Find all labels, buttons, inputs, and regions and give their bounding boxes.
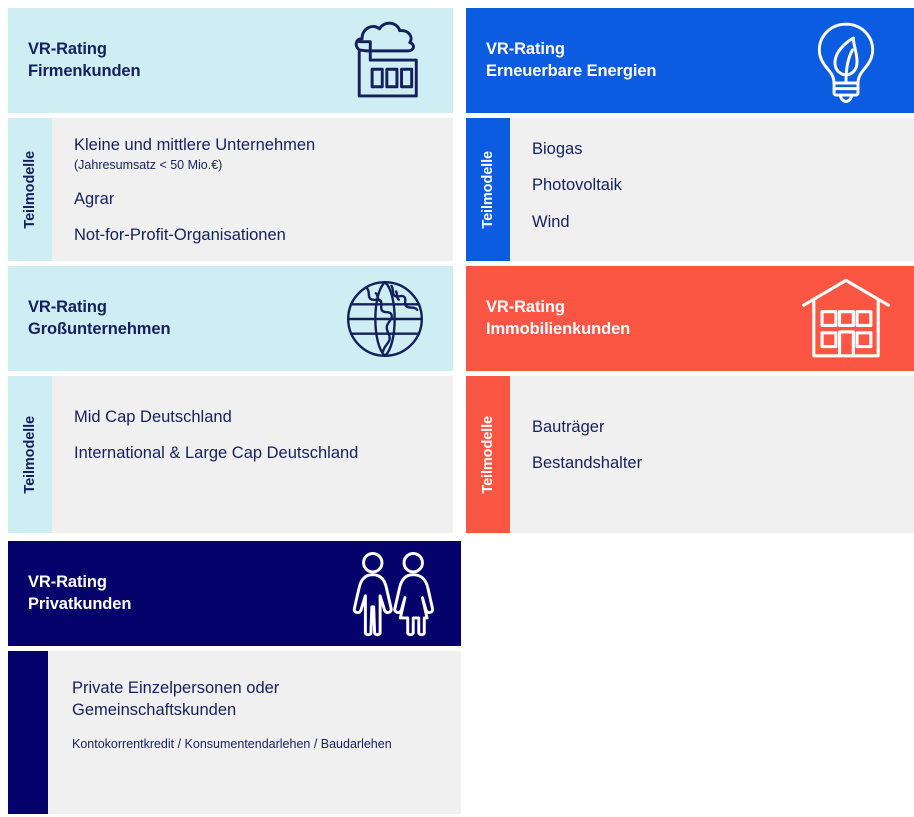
card-header-firmenkunden: VR-Rating Firmenkunden <box>8 8 453 113</box>
list-item: Photovoltaik <box>532 174 892 196</box>
card-items-grossunternehmen: Mid Cap Deutschland International & Larg… <box>52 376 453 533</box>
card-title: VR-Rating Immobilienkunden <box>486 297 630 341</box>
list-item: Wind <box>532 211 892 233</box>
card-body-grossunternehmen: Teilmodelle Mid Cap Deutschland Internat… <box>8 376 453 533</box>
rail-teilmodelle: Teilmodelle <box>466 376 510 533</box>
card-firmenkunden[interactable]: VR-Rating Firmenkunden Teilmodelle Klein… <box>8 8 453 261</box>
card-erneuerbare-energien[interactable]: VR-Rating Erneuerbare Energien Teilmodel… <box>466 8 914 261</box>
card-body-immobilienkunden: Teilmodelle Bauträger Bestandshalter <box>466 376 914 533</box>
list-item: Agrar <box>74 188 431 210</box>
lightbulb-leaf-icon <box>800 15 892 107</box>
rail-label: Teilmodelle <box>481 151 496 229</box>
card-immobilienkunden[interactable]: VR-Rating Immobilienkunden Teilmodelle <box>466 266 914 533</box>
list-item: Not-for-Profit-Organisationen <box>74 224 431 246</box>
list-item: Kleine und mittlere Unternehmen (Jahresu… <box>74 134 431 174</box>
list-item: Mid Cap Deutschland <box>74 406 431 428</box>
card-items-immobilienkunden: Bauträger Bestandshalter <box>510 376 914 533</box>
card-items-firmenkunden: Kleine und mittlere Unternehmen (Jahresu… <box>52 118 453 261</box>
list-item: Private Einzelpersonen oder Gemeinschaft… <box>72 677 439 722</box>
globe-icon <box>339 273 431 365</box>
card-title: VR-Rating Privatkunden <box>28 572 131 616</box>
card-title: VR-Rating Erneuerbare Energien <box>486 39 656 83</box>
list-item: Biogas <box>532 138 892 160</box>
two-people-icon <box>347 548 439 640</box>
item-sublabel: (Jahresumsatz < 50 Mio.€) <box>74 157 431 173</box>
rail-label: Teilmodelle <box>23 416 38 494</box>
card-header-grossunternehmen: VR-Rating Großunternehmen <box>8 266 453 371</box>
rail-teilmodelle: Teilmodelle <box>466 118 510 261</box>
list-item: Bestandshalter <box>532 452 892 474</box>
card-note: Kontokorrentkredit / Konsumentendarlehen… <box>72 736 439 753</box>
card-body-erneuerbare-energien: Teilmodelle Biogas Photovoltaik Wind <box>466 118 914 261</box>
card-items-erneuerbare-energien: Biogas Photovoltaik Wind <box>510 118 914 261</box>
card-header-immobilienkunden: VR-Rating Immobilienkunden <box>466 266 914 371</box>
list-item: Bauträger <box>532 416 892 438</box>
list-item: International & Large Cap Deutschland <box>74 442 431 464</box>
card-title: VR-Rating Firmenkunden <box>28 39 140 83</box>
card-body-privatkunden: Private Einzelpersonen oder Gemeinschaft… <box>8 651 461 814</box>
card-body-firmenkunden: Teilmodelle Kleine und mittlere Unterneh… <box>8 118 453 261</box>
rail-teilmodelle: Teilmodelle <box>8 376 52 533</box>
rail-label: Teilmodelle <box>481 416 496 494</box>
rating-model-overview-board: VR-Rating Firmenkunden Teilmodelle Klein… <box>0 0 914 817</box>
rail-privatkunden <box>8 651 48 814</box>
rail-teilmodelle: Teilmodelle <box>8 118 52 261</box>
item-label: Kleine und mittlere Unternehmen <box>74 136 315 154</box>
card-title: VR-Rating Großunternehmen <box>28 297 170 341</box>
house-icon <box>800 273 892 365</box>
card-header-erneuerbare-energien: VR-Rating Erneuerbare Energien <box>466 8 914 113</box>
card-grossunternehmen[interactable]: VR-Rating Großunternehmen Teilmodelle Mi… <box>8 266 453 533</box>
card-header-privatkunden: VR-Rating Privatkunden <box>8 541 461 646</box>
card-privatkunden[interactable]: VR-Rating Privatkunden Private Einzelper… <box>8 541 461 814</box>
card-items-privatkunden: Private Einzelpersonen oder Gemeinschaft… <box>48 651 461 814</box>
rail-label: Teilmodelle <box>23 151 38 229</box>
factory-icon <box>339 15 431 107</box>
